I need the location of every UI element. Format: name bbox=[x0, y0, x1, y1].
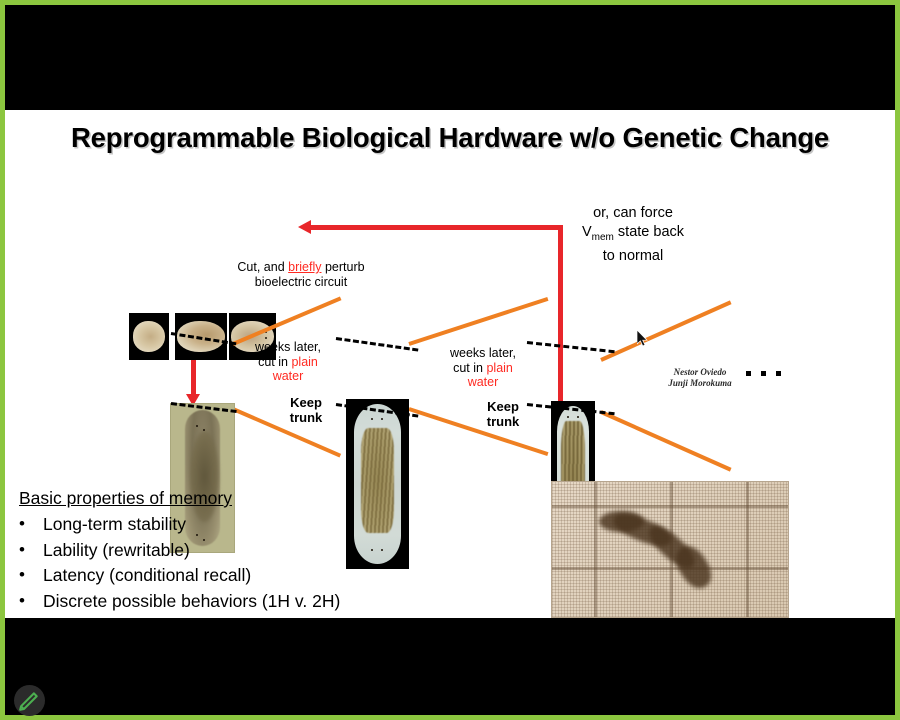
force-vmem-label: or, can force Vmem state back to normal bbox=[553, 204, 713, 265]
step-label-2: weeks later, cut in plain water bbox=[445, 346, 521, 390]
planarian-photo-head-fragment bbox=[129, 313, 169, 360]
step2-line3-emphasis: water bbox=[468, 375, 499, 389]
step-label-1: weeks later, cut in plain water bbox=[250, 340, 326, 384]
list-item: Latency (conditional recall) bbox=[15, 563, 485, 589]
connector-line-3a bbox=[600, 300, 731, 361]
credit-name-2: Junji Morokuma bbox=[668, 378, 731, 388]
planarian-behavior-video bbox=[551, 481, 789, 618]
step2-line2-pre: cut in bbox=[453, 361, 486, 375]
force-label-line1: or, can force bbox=[593, 205, 673, 221]
force-label-sub: mem bbox=[592, 231, 614, 242]
cut-label-emphasis: briefly bbox=[288, 260, 321, 274]
app-window: Reprogrammable Biological Hardware w/o G… bbox=[0, 0, 900, 720]
keep2-line2: trunk bbox=[487, 414, 520, 429]
step1-line2-pre: cut in bbox=[258, 355, 291, 369]
step1-line3-emphasis: water bbox=[273, 369, 304, 383]
keep2-line1: Keep bbox=[487, 399, 519, 414]
credit-name-1: Nestor Oviedo bbox=[674, 367, 727, 377]
connector-line-2a bbox=[408, 297, 548, 346]
edit-button[interactable] bbox=[14, 685, 45, 716]
slide-canvas: Reprogrammable Biological Hardware w/o G… bbox=[5, 110, 895, 618]
ellipsis-indicator bbox=[746, 371, 790, 381]
list-item: Discrete possible behaviors (1H v. 2H) bbox=[15, 589, 485, 615]
cut-line-3-upper bbox=[527, 341, 615, 353]
connector-line-3b bbox=[600, 410, 731, 471]
cut-perturb-label: Cut, and briefly perturb bioelectric cir… bbox=[201, 260, 401, 289]
keep1-line2: trunk bbox=[290, 410, 323, 425]
step2-line2-emphasis: plain bbox=[486, 361, 512, 375]
cut-label-post: perturb bbox=[321, 260, 364, 274]
force-label-v: V bbox=[582, 224, 592, 240]
memory-section-heading: Basic properties of memory bbox=[19, 488, 232, 509]
feedback-arrow-head bbox=[298, 220, 311, 234]
keep-trunk-label-2: Keep trunk bbox=[472, 399, 534, 429]
force-label-rest: state back bbox=[614, 224, 684, 240]
cut-label-line2: bioelectric circuit bbox=[255, 275, 347, 289]
feedback-arrow-horizontal bbox=[308, 225, 563, 230]
step2-line1: weeks later, bbox=[450, 346, 516, 360]
keep1-line1: Keep bbox=[290, 395, 322, 410]
pencil-icon bbox=[14, 685, 45, 716]
memory-properties-list: Long-term stability Lability (rewritable… bbox=[15, 512, 485, 614]
list-item: Long-term stability bbox=[15, 512, 485, 538]
photo-credit: Nestor Oviedo Junji Morokuma bbox=[645, 367, 755, 389]
page-title: Reprogrammable Biological Hardware w/o G… bbox=[5, 122, 895, 154]
keep-trunk-label-1: Keep trunk bbox=[275, 395, 337, 425]
list-item: Lability (rewritable) bbox=[15, 538, 485, 564]
force-label-line3: to normal bbox=[603, 248, 663, 264]
mouse-cursor bbox=[637, 330, 649, 348]
cut-arrow-shaft bbox=[191, 360, 196, 398]
step1-line2-emphasis: plain bbox=[291, 355, 317, 369]
step1-line1: weeks later, bbox=[255, 340, 321, 354]
planarian-worm-shape bbox=[599, 509, 731, 593]
cut-label-pre: Cut, and bbox=[237, 260, 288, 274]
cut-line-2-upper bbox=[336, 337, 419, 352]
